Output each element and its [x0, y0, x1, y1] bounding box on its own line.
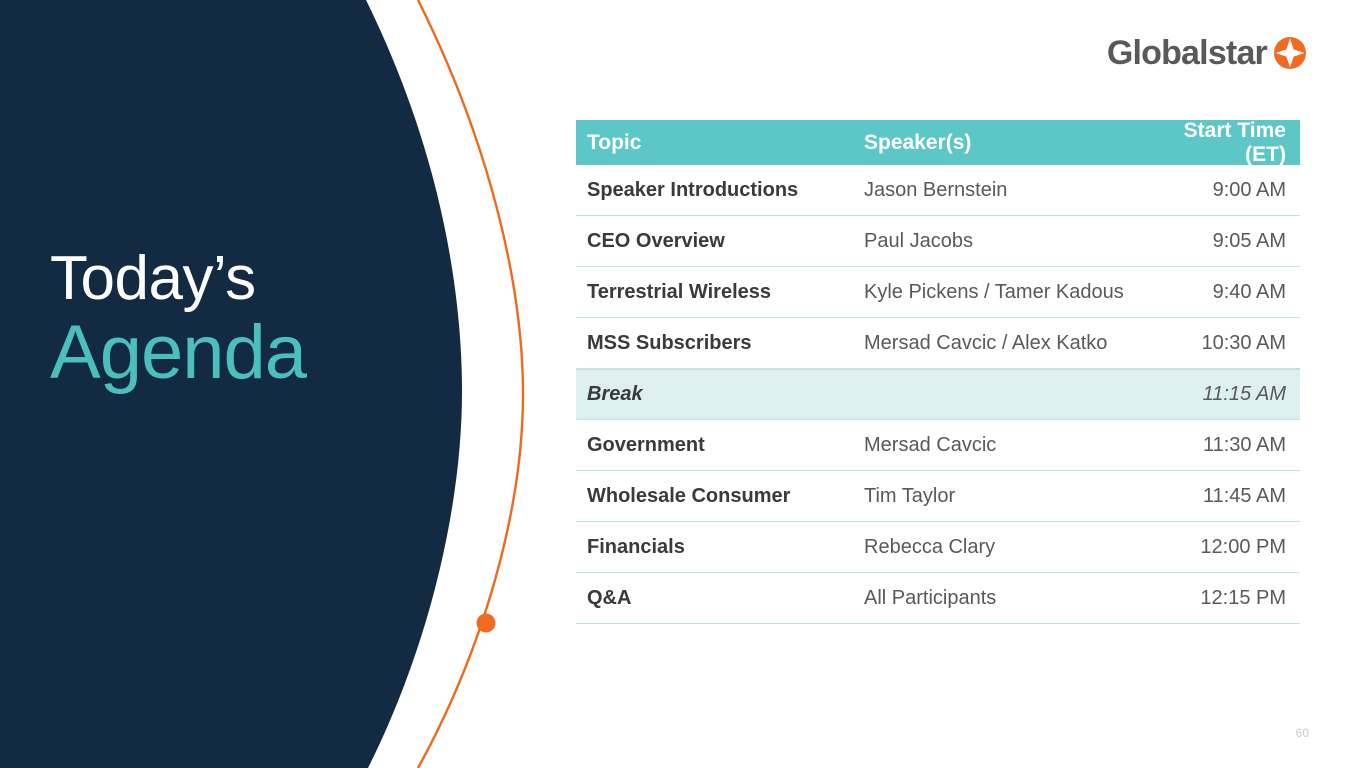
- orange-dot: [477, 614, 496, 633]
- table-row: CEO Overview Paul Jacobs 9:05 AM: [576, 216, 1300, 267]
- column-header-start-time: Start Time (ET): [1154, 119, 1300, 167]
- cell-topic: MSS Subscribers: [576, 332, 864, 355]
- table-row: Financials Rebecca Clary 12:00 PM: [576, 522, 1300, 573]
- agenda-table: Topic Speaker(s) Start Time (ET) Speaker…: [576, 120, 1300, 624]
- cell-speaker: Tim Taylor: [864, 485, 1154, 508]
- page-number: 60: [1296, 726, 1309, 740]
- cell-time: 10:30 AM: [1154, 332, 1300, 355]
- cell-topic: Q&A: [576, 587, 864, 610]
- cell-speaker: All Participants: [864, 587, 1154, 610]
- cell-topic: Financials: [576, 536, 864, 559]
- orange-arc: [418, 0, 523, 768]
- table-row: MSS Subscribers Mersad Cavcic / Alex Kat…: [576, 318, 1300, 369]
- cell-time: 9:05 AM: [1154, 230, 1300, 253]
- title-line-today: Today’s: [50, 248, 410, 310]
- column-header-speaker: Speaker(s): [864, 131, 1154, 155]
- table-row: Q&A All Participants 12:15 PM: [576, 573, 1300, 624]
- cell-speaker: Paul Jacobs: [864, 230, 1154, 253]
- cell-speaker: Jason Bernstein: [864, 179, 1154, 202]
- table-row: Terrestrial Wireless Kyle Pickens / Tame…: [576, 267, 1300, 318]
- cell-topic: Government: [576, 434, 864, 457]
- cell-topic: CEO Overview: [576, 230, 864, 253]
- cell-topic: Speaker Introductions: [576, 179, 864, 202]
- globalstar-logo: Globalstar: [1107, 36, 1307, 70]
- cell-topic: Terrestrial Wireless: [576, 281, 864, 304]
- table-row: Wholesale Consumer Tim Taylor 11:45 AM: [576, 471, 1300, 522]
- globalstar-burst-icon: [1273, 36, 1307, 70]
- table-row: Government Mersad Cavcic 11:30 AM: [576, 420, 1300, 471]
- cell-topic: Wholesale Consumer: [576, 485, 864, 508]
- table-header-row: Topic Speaker(s) Start Time (ET): [576, 120, 1300, 165]
- cell-time: 12:15 PM: [1154, 587, 1300, 610]
- cell-time: 9:00 AM: [1154, 179, 1300, 202]
- cell-time: 9:40 AM: [1154, 281, 1300, 304]
- table-row-break: Break 11:15 AM: [576, 369, 1300, 420]
- page-title: Today’s Agenda: [50, 248, 410, 395]
- cell-time: 11:45 AM: [1154, 485, 1300, 508]
- title-line-agenda: Agenda: [50, 310, 410, 395]
- cell-topic: Break: [576, 383, 864, 406]
- cell-speaker: Kyle Pickens / Tamer Kadous: [864, 281, 1154, 304]
- cell-speaker: Mersad Cavcic: [864, 434, 1154, 457]
- column-header-topic: Topic: [576, 131, 864, 155]
- table-row: Speaker Introductions Jason Bernstein 9:…: [576, 165, 1300, 216]
- agenda-slide: Today’s Agenda Globalstar Topic Speaker(…: [0, 0, 1365, 768]
- cell-speaker: Mersad Cavcic / Alex Katko: [864, 332, 1154, 355]
- cell-time: 11:30 AM: [1154, 434, 1300, 457]
- cell-time: 11:15 AM: [1154, 383, 1300, 406]
- logo-wordmark: Globalstar: [1107, 36, 1267, 70]
- cell-time: 12:00 PM: [1154, 536, 1300, 559]
- cell-speaker: Rebecca Clary: [864, 536, 1154, 559]
